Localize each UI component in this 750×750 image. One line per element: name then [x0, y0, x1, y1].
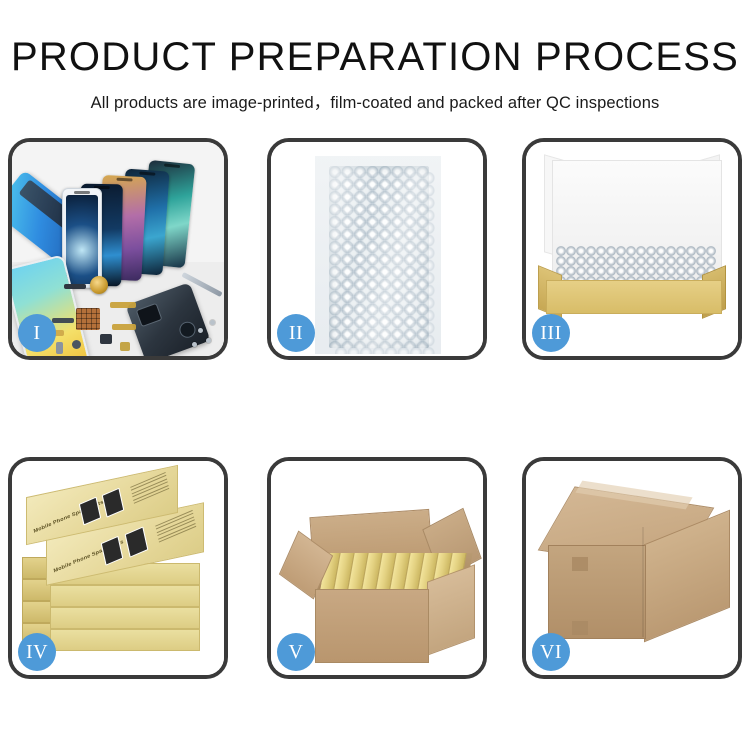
mailer-box-bubble-contents: [556, 246, 716, 284]
step-badge-6: VI: [532, 633, 570, 671]
small-component-part: [120, 342, 130, 351]
step-badge-3: III: [532, 314, 570, 352]
step-badge-1: I: [18, 314, 56, 352]
small-component-part: [72, 340, 81, 349]
phone-notch-icon: [139, 172, 155, 176]
page-title: PRODUCT PREPARATION PROCESS: [0, 0, 750, 78]
carton-front-panel: [315, 589, 429, 663]
retail-box-thumbnail: [125, 526, 149, 557]
mailer-box-front-panel: [546, 280, 722, 314]
retail-box-thumbnail: [102, 488, 125, 518]
step-badge-5: V: [277, 633, 315, 671]
retail-box-front: [50, 607, 200, 629]
step-panel-stacked-boxes[interactable]: Mobile Phone Spare Parts Mobile Phone Sp…: [8, 457, 228, 679]
small-component-part: [100, 334, 112, 344]
page-subtitle: All products are image-printed，film-coat…: [0, 78, 750, 113]
step-badge-2: II: [277, 314, 315, 352]
phone-notch-icon: [116, 178, 132, 182]
gold-coil-part-icon: [90, 276, 108, 294]
retail-box-spec-lines: [130, 472, 169, 506]
retail-box-front: [50, 585, 200, 607]
step-panel-sealed-carton[interactable]: VI: [522, 457, 742, 679]
bubble-wrap-gloss: [329, 166, 429, 348]
sealed-carton-front-face: [548, 545, 646, 639]
small-component-part: [56, 342, 63, 354]
sealed-carton-handle-tab: [572, 557, 588, 571]
screw-part-icon: [198, 328, 203, 333]
copper-grid-part-icon: [76, 308, 100, 330]
flex-cable-part: [52, 318, 74, 323]
flex-cable-part: [110, 302, 136, 308]
phone-notch-icon: [164, 163, 180, 168]
step-badge-4: IV: [18, 633, 56, 671]
retail-box-front: [50, 629, 200, 651]
phone-notch-icon: [74, 191, 90, 194]
step-panel-open-carton[interactable]: V: [267, 457, 487, 679]
process-steps-grid: I II III: [8, 138, 745, 683]
step-panel-open-mailer-box[interactable]: III: [522, 138, 742, 360]
screw-part-icon: [210, 320, 215, 325]
sealed-carton-corner-seam: [642, 527, 644, 637]
screw-part-icon: [192, 342, 197, 347]
sealed-carton-handle-tab: [572, 621, 588, 635]
page-header: PRODUCT PREPARATION PROCESS All products…: [0, 0, 750, 113]
screw-part-icon: [206, 338, 211, 343]
flex-cable-part: [112, 324, 136, 330]
step-panel-phone-parts[interactable]: I: [8, 138, 228, 360]
small-component-part: [64, 284, 86, 289]
step-panel-bubble-wrap[interactable]: II: [267, 138, 487, 360]
